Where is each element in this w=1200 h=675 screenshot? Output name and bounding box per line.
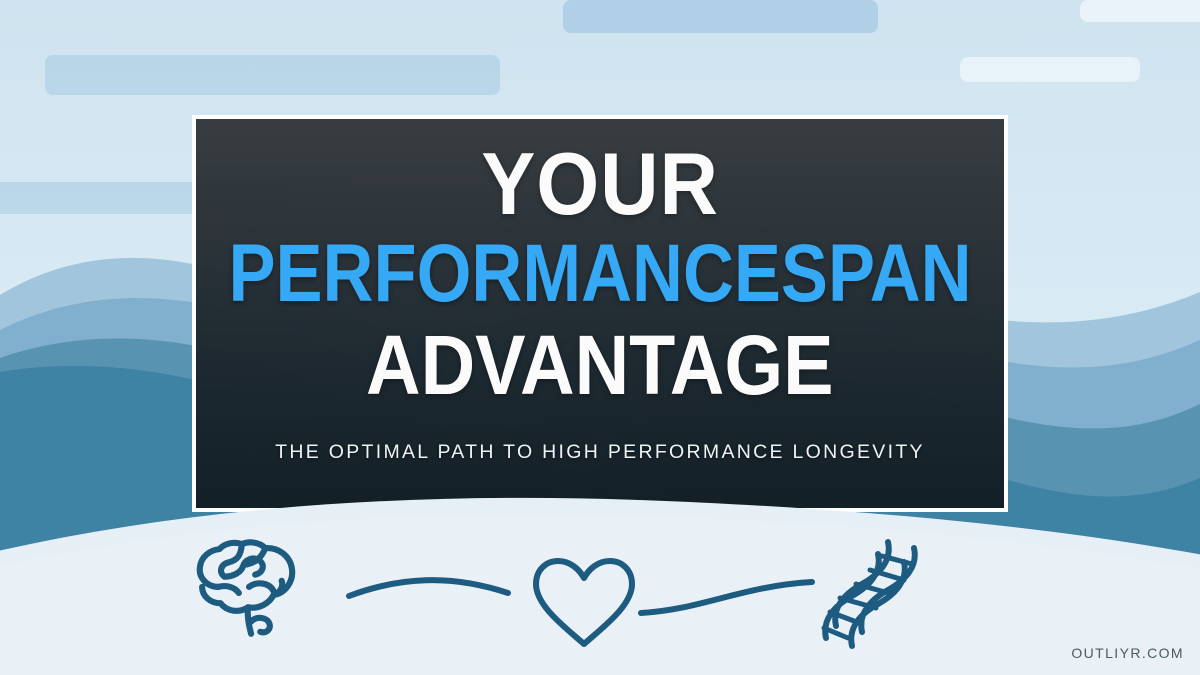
poster-canvas: YOUR PERFORMANCESPAN ADVANTAGE THE OPTIM… <box>0 0 1200 675</box>
title-line-3: ADVANTAGE <box>366 323 834 407</box>
watermark: OUTLIYR.COM <box>1071 645 1184 661</box>
title-panel-inner: YOUR PERFORMANCESPAN ADVANTAGE THE OPTIM… <box>196 119 1004 508</box>
title-panel-content: YOUR PERFORMANCESPAN ADVANTAGE THE OPTIM… <box>196 119 1004 508</box>
title-line-2-highlight: PERFORMANCESPAN <box>228 233 971 315</box>
title-line-1: YOUR <box>481 141 719 227</box>
subtitle: THE OPTIMAL PATH TO HIGH PERFORMANCE LON… <box>275 441 925 464</box>
title-panel: YOUR PERFORMANCESPAN ADVANTAGE THE OPTIM… <box>192 115 1008 512</box>
